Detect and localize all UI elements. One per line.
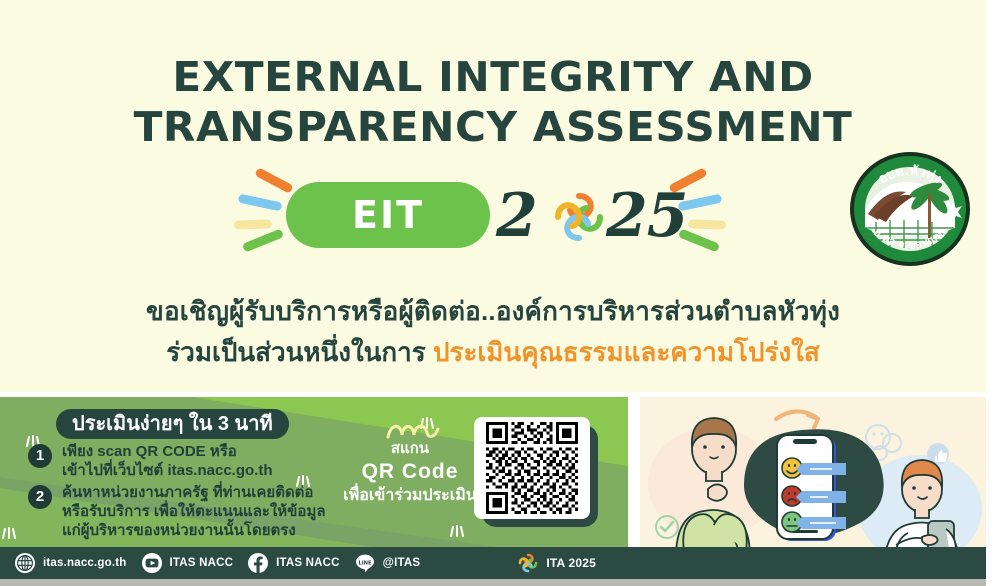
- step-2-line-2: หรือรับบริการ เพื่อให้ตะแนนและให้ข้อมูล: [62, 502, 326, 521]
- eit-2025-logo: EIT 2 25: [228, 168, 738, 264]
- line-icon: LINE: [354, 552, 376, 574]
- footer-label-youtube: ITAS NACC: [170, 557, 234, 569]
- ita-knot-flower-icon: [517, 552, 539, 574]
- footer-brand: ITA 2025: [517, 552, 596, 574]
- bottom-strip: [0, 579, 986, 586]
- year-prefix: 2: [496, 178, 537, 254]
- globe-icon: [14, 552, 36, 574]
- ita-knot-flower-icon: [550, 188, 608, 246]
- scan-instruction: สแกน QR Code เพื่อเข้าร่วมประเมิน: [330, 439, 490, 507]
- invite-line-2-plain: ร่วมเป็นส่วนหนึ่งในการ: [166, 337, 433, 367]
- sparkle-icon: [448, 523, 466, 544]
- footer-label-line: @ITAS: [383, 557, 421, 569]
- footer-label-brand: ITA 2025: [546, 556, 596, 570]
- footer-item-line[interactable]: LINE @ITAS: [354, 552, 421, 574]
- eit-pill: EIT: [286, 182, 490, 248]
- invite-line-1-plain: ขอเชิญผู้รับบริการหรือผู้ติดต่อ..: [146, 296, 496, 326]
- step-number-1: 1: [28, 444, 52, 468]
- poster-canvas: EXTERNAL INTEGRITY AND TRANSPARENCY ASSE…: [0, 0, 1003, 586]
- qr-code-icon[interactable]: [474, 417, 590, 519]
- organization-seal: อบต.หัวทุ่ง อ.พล จ.ขอนแก่น: [848, 150, 972, 268]
- footer-item-youtube[interactable]: ITAS NACC: [141, 552, 234, 574]
- scan-line-3: เพื่อเข้าร่วมประเมิน: [330, 485, 490, 507]
- step-1-line-1: เพียง scan QR CODE หรือ: [62, 442, 272, 461]
- panel-badge: ประเมินง่ายๆ ใน 3 นาที: [56, 409, 289, 439]
- scan-line-1: สแกน: [330, 439, 490, 459]
- step-2-line-1: ค้นหาหน่วยงานภาครัฐ ที่ท่านเคยติดต่อ: [62, 483, 326, 502]
- sunburst-right-icon: [668, 176, 734, 260]
- footer-label-facebook: ITAS NACC: [276, 557, 340, 569]
- footer-item-website[interactable]: itas.nacc.go.th: [14, 552, 127, 574]
- hero-section: EXTERNAL INTEGRITY AND TRANSPARENCY ASSE…: [0, 0, 986, 392]
- step-number-2: 2: [28, 485, 52, 509]
- sparkle-icon: [0, 525, 18, 546]
- footer-label-website: itas.nacc.go.th: [43, 557, 127, 569]
- step-2-line-3: แก่ผู้บริหารของหน่วยงานนั้นโดยตรง: [62, 521, 326, 540]
- footer-bar: itas.nacc.go.th ITAS NACC ITAS NACC: [0, 547, 986, 579]
- step-text-1: เพียง scan QR CODE หรือ เข้าไปที่เว็บไซต…: [62, 442, 272, 480]
- invite-line-1-org: องค์การบริหารส่วนตำบลหัวทุ่ง: [496, 296, 840, 326]
- invite-line-2-highlight: ประเมินคุณธรรมและความโปร่งใส: [433, 337, 820, 367]
- invite-line-2: ร่วมเป็นส่วนหนึ่งในการ ประเมินคุณธรรมและ…: [0, 332, 986, 373]
- instructions-panel: ประเมินง่ายๆ ใน 3 นาที 1 เพียง scan QR C…: [0, 397, 628, 547]
- facebook-icon: [247, 552, 269, 574]
- step-text-2: ค้นหาหน่วยงานภาครัฐ ที่ท่านเคยติดต่อ หรื…: [62, 483, 326, 540]
- eit-label: EIT: [286, 182, 490, 248]
- step-1-line-2: เข้าไปที่เว็บไซต์ itas.nacc.go.th: [62, 461, 272, 480]
- qr-code-block[interactable]: [474, 417, 598, 527]
- footer-item-facebook[interactable]: ITAS NACC: [247, 552, 340, 574]
- svg-text:LINE: LINE: [358, 560, 372, 566]
- page-title: EXTERNAL INTEGRITY AND TRANSPARENCY ASSE…: [0, 52, 986, 152]
- invite-line-1: ขอเชิญผู้รับบริการหรือผู้ติดต่อ..องค์การ…: [0, 291, 986, 332]
- right-margin: [986, 0, 1003, 586]
- sunburst-left-icon: [228, 176, 294, 260]
- youtube-icon: [141, 552, 163, 574]
- scan-line-2: QR Code: [330, 459, 490, 485]
